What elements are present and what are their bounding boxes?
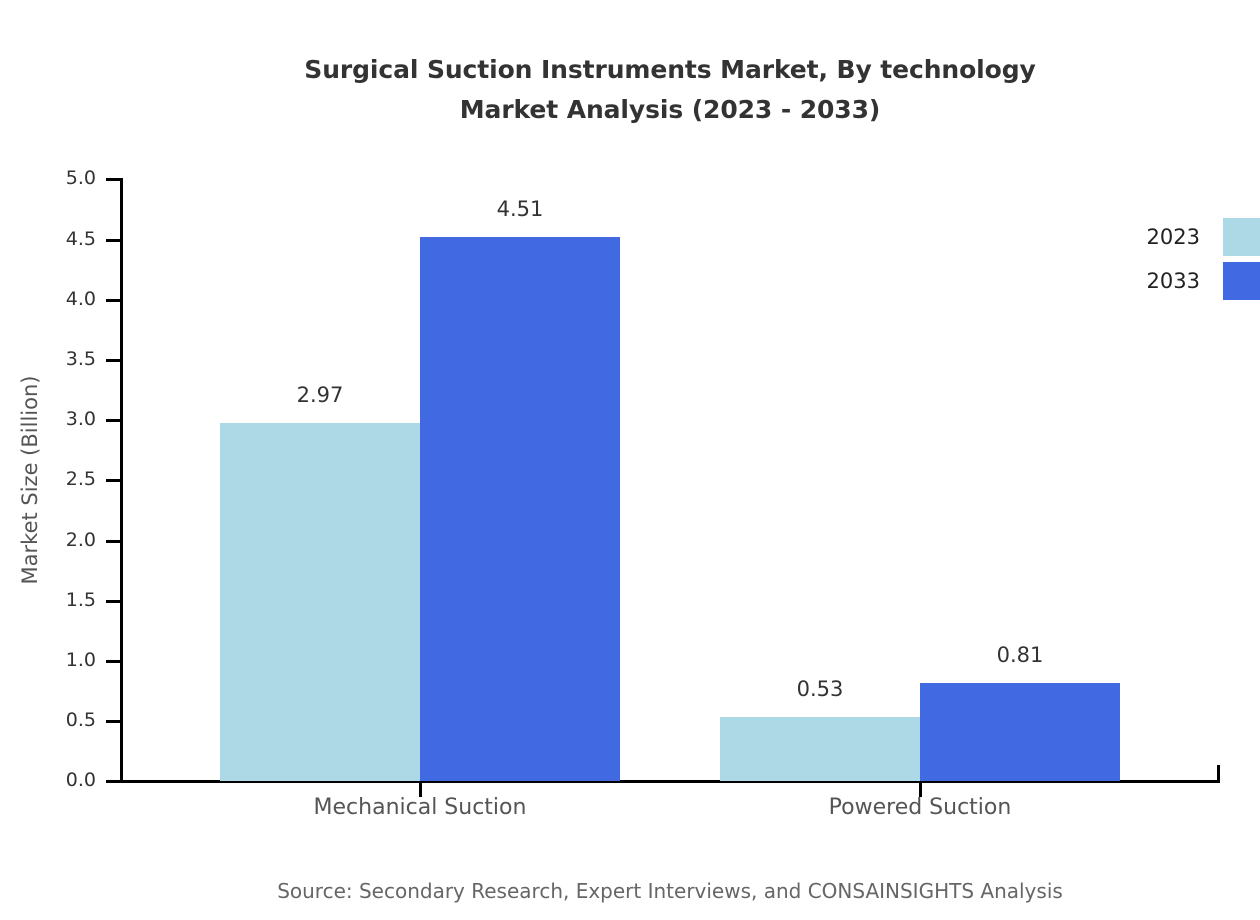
bar-powered-suction-2033[interactable] — [920, 683, 1120, 781]
legend-swatch-2033 — [1223, 262, 1260, 300]
y-tick-label-0: 0.0 — [66, 771, 96, 790]
y-tick-2 — [106, 660, 120, 663]
y-tick-5 — [106, 479, 120, 482]
bar-mechanical-suction-2033[interactable] — [420, 237, 620, 781]
y-tick-0 — [106, 780, 120, 783]
y-tick-label-7: 3.5 — [66, 350, 96, 369]
y-tick-3 — [106, 600, 120, 603]
legend-label-2033: 2033 — [1100, 269, 1200, 293]
y-tick-1 — [106, 720, 120, 723]
y-tick-label-8: 4.0 — [66, 290, 96, 309]
x-tick-label-mechanical-suction: Mechanical Suction — [250, 793, 590, 823]
y-tick-7 — [106, 359, 120, 362]
legend-swatch-2023 — [1223, 218, 1260, 256]
plot-area: 2.97 4.51 0.53 0.81 — [120, 178, 1220, 781]
bar-mechanical-suction-2023[interactable] — [220, 423, 420, 781]
bar-label-mechanical-suction-2033: 4.51 — [420, 199, 620, 220]
bar-label-powered-suction-2023: 0.53 — [720, 679, 920, 700]
y-tick-label-1: 0.5 — [66, 711, 96, 730]
y-axis-title: Market Size (Billion) — [18, 270, 42, 690]
y-tick-label-6: 3.0 — [66, 410, 96, 429]
y-tick-9 — [106, 239, 120, 242]
y-tick-label-3: 1.5 — [66, 591, 96, 610]
bar-powered-suction-2023[interactable] — [720, 717, 920, 781]
y-tick-label-10: 5.0 — [66, 169, 96, 188]
y-tick-6 — [106, 419, 120, 422]
source-note: Source: Secondary Research, Expert Inter… — [0, 878, 1260, 904]
bar-label-powered-suction-2033: 0.81 — [920, 645, 1120, 666]
chart-title-line-1: Surgical Suction Instruments Market, By … — [0, 50, 1260, 90]
legend-item-2023[interactable]: 2023 — [1100, 218, 1260, 256]
y-tick-4 — [106, 540, 120, 543]
y-tick-10 — [106, 178, 120, 181]
x-tick-label-powered-suction: Powered Suction — [750, 793, 1090, 823]
chart-legend: 2023 2033 — [1100, 218, 1260, 302]
chart-title-line-2: Market Analysis (2023 - 2033) — [0, 90, 1260, 130]
bar-label-mechanical-suction-2023: 2.97 — [220, 385, 420, 406]
chart-title: Surgical Suction Instruments Market, By … — [0, 50, 1260, 130]
y-tick-8 — [106, 299, 120, 302]
legend-label-2023: 2023 — [1100, 225, 1200, 249]
chart-figure: Surgical Suction Instruments Market, By … — [0, 0, 1260, 920]
y-tick-label-4: 2.0 — [66, 531, 96, 550]
y-tick-label-5: 2.5 — [66, 470, 96, 489]
legend-item-2033[interactable]: 2033 — [1100, 262, 1260, 300]
y-tick-label-9: 4.5 — [66, 230, 96, 249]
y-tick-label-2: 1.0 — [66, 651, 96, 670]
